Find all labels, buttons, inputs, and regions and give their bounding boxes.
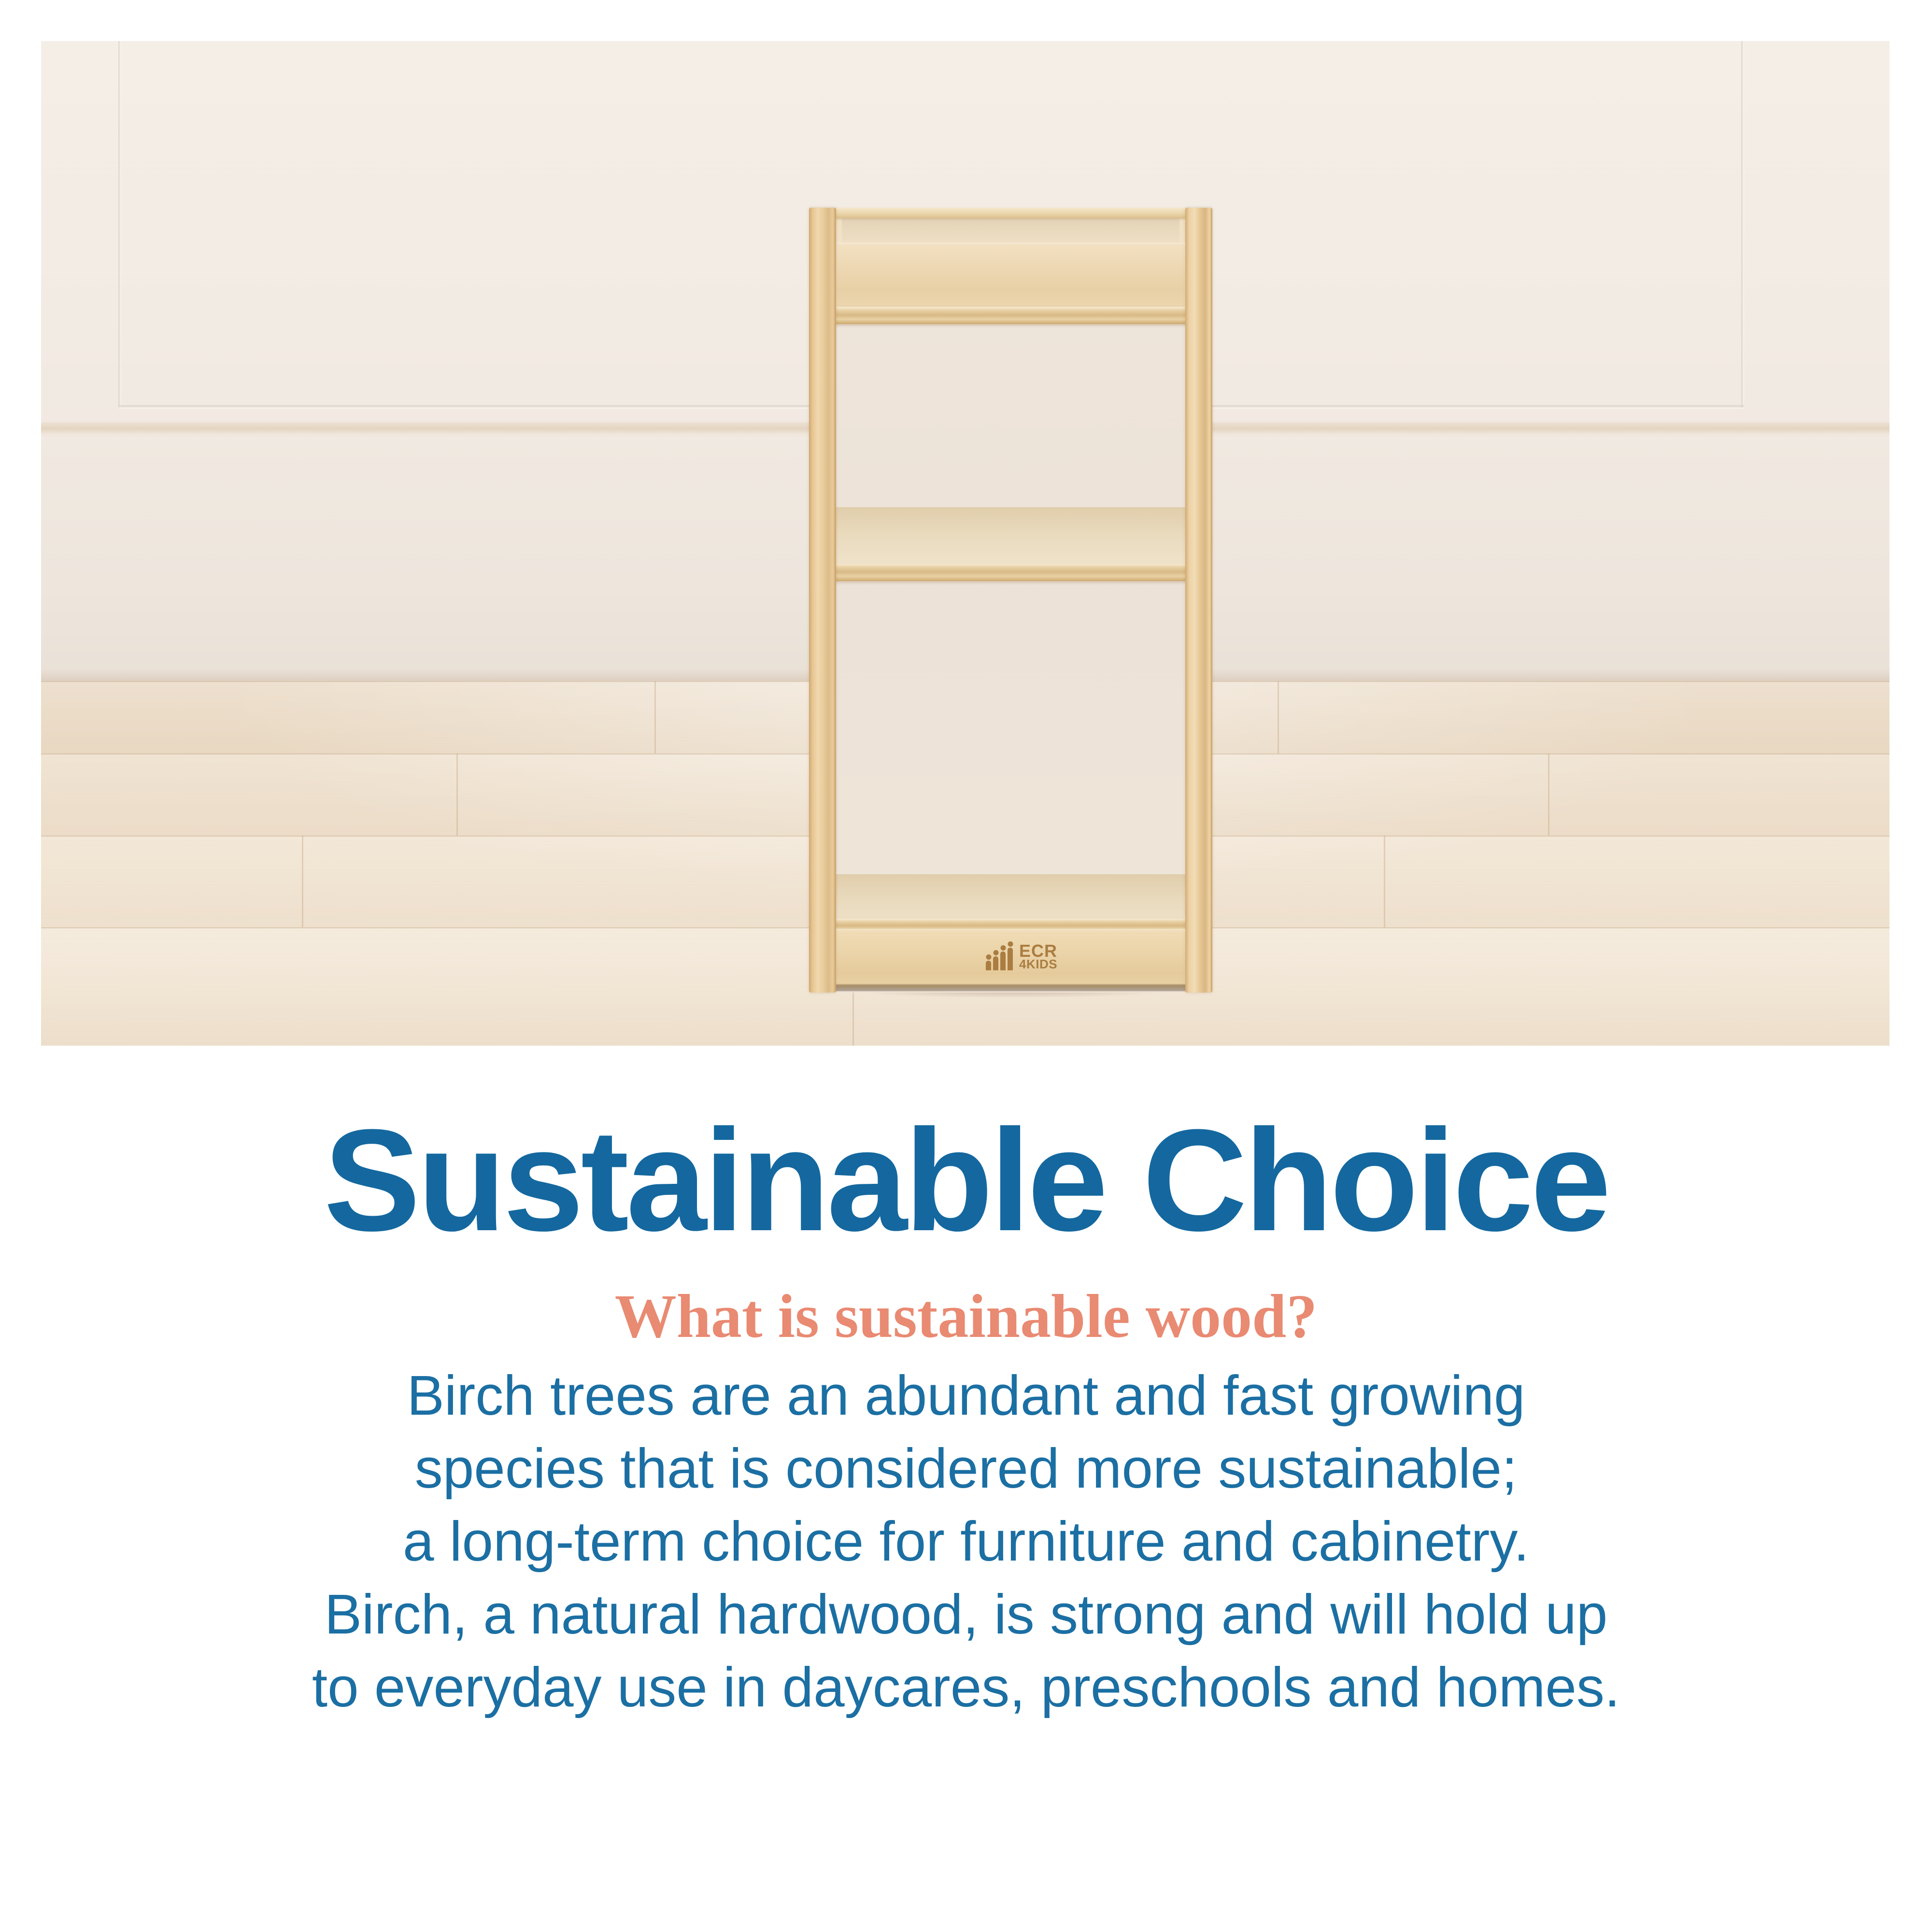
- logo-figure-icon: [986, 954, 991, 970]
- floor-plank-seam: [456, 753, 458, 836]
- shelf-edge-middle: [830, 564, 1191, 581]
- body-line: Birch, a natural hardwood, is strong and…: [0, 1578, 1932, 1651]
- body-line: a long-term choice for furniture and cab…: [0, 1505, 1932, 1578]
- logo-figures-icon: [986, 941, 1013, 970]
- page-title: Sustainable Choice: [0, 1063, 1932, 1254]
- logo-figure-icon: [1008, 941, 1013, 970]
- floor-plank-seam: [1278, 681, 1279, 753]
- product-photo: ECR 4KIDS: [41, 41, 1889, 1046]
- promo-card: ECR 4KIDS Sustainable Choice What is sus…: [0, 0, 1932, 1932]
- logo-tagline-text: 4KIDS: [1019, 959, 1057, 970]
- wall-panel-edge-right: [1741, 41, 1744, 408]
- body-line: to everyday use in daycares, preschools …: [0, 1651, 1932, 1724]
- body-paragraph: Birch trees are an abundant and fast gro…: [0, 1349, 1932, 1723]
- logo-figure-icon: [993, 950, 998, 970]
- shelf-post-left: [809, 208, 836, 993]
- wall-panel-edge-left: [118, 41, 121, 408]
- floor-plank-seam: [302, 836, 303, 927]
- top-tray-interior: [842, 217, 1179, 244]
- section-subtitle: What is sustainable wood?: [0, 1254, 1932, 1349]
- body-line: Birch trees are an abundant and fast gro…: [0, 1359, 1932, 1432]
- shelf-surface-middle: [836, 507, 1185, 565]
- floor-plank-seam: [1384, 836, 1385, 927]
- ecr4kids-logo: ECR 4KIDS: [986, 941, 1057, 970]
- birch-shelf-unit: ECR 4KIDS: [809, 208, 1212, 993]
- shelf-edge-top: [830, 307, 1191, 324]
- logo-wordmark: ECR 4KIDS: [1019, 943, 1057, 970]
- shelf-post-right: [1185, 208, 1212, 993]
- floor-plank-seam: [1548, 753, 1549, 836]
- base-under-shadow: [831, 984, 1191, 991]
- copy-block: Sustainable Choice What is sustainable w…: [0, 1063, 1932, 1723]
- body-line: species that is considered more sustaina…: [0, 1432, 1932, 1505]
- floor-plank-seam: [654, 681, 656, 753]
- logo-figure-icon: [1000, 945, 1006, 970]
- top-tray-front-panel: [836, 242, 1185, 315]
- top-tray-rim: [830, 208, 1191, 218]
